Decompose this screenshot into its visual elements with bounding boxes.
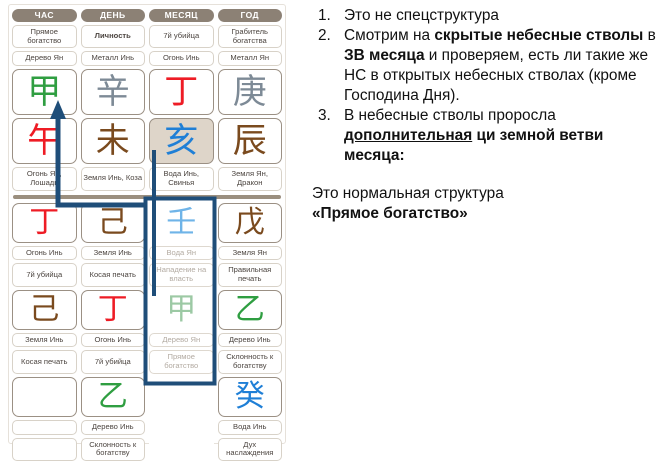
bazi-chart-panel: ЧАС ДЕНЬ МЕСЯЦ ГОД Прямое богатство Личн… <box>8 4 286 444</box>
hidden-stem-2-year: 乙 <box>218 290 283 330</box>
note-2-text-c: в <box>643 27 655 44</box>
branch-element-year: Земля Ян, Дракон <box>218 167 283 190</box>
hidden-stem-2-element-year: Дерево Инь <box>218 333 283 348</box>
note-1-text: Это не спецструктура <box>344 7 499 24</box>
hidden-stem-3-hour <box>12 377 77 417</box>
hidden-stem-1-god-day: Косая печать <box>81 263 146 286</box>
hidden-stem-1-god-hour: 7й убийца <box>12 263 77 286</box>
earthly-branch-month: 亥 <box>149 118 214 164</box>
pillar-header-day: ДЕНЬ <box>81 9 146 22</box>
note-item-1: 1. Это не спецструктура <box>312 6 662 26</box>
note-3-text-a: В небесные стволы проросла <box>344 107 556 124</box>
hidden-stem-2-hour: 己 <box>12 290 77 330</box>
hidden-stem-3-element-day: Дерево Инь <box>81 420 146 435</box>
section-divider <box>13 195 281 199</box>
hidden-stem-3-god-month <box>149 438 214 461</box>
heavenly-stem-day: 辛 <box>81 69 146 115</box>
branch-element-hour: Огонь Ян, Лошадь <box>12 167 77 190</box>
hidden-stem-3-god-hour <box>12 438 77 461</box>
note-3-text-b: дополнительная <box>344 127 472 144</box>
heavenly-stem-row: 甲 辛 丁 庚 <box>12 69 282 115</box>
note-1-body: Это не спецструктура <box>344 6 662 26</box>
stem-god-month: 7й убийца <box>149 25 214 48</box>
hidden-stem-1-god-year: Правильная печать <box>218 263 283 286</box>
notes-spacer <box>312 166 662 184</box>
earthly-branch-day: 未 <box>81 118 146 164</box>
hidden-stem-2-god-hour: Косая печать <box>12 350 77 373</box>
hidden-stem-3-element-year: Вода Инь <box>218 420 283 435</box>
stem-god-hour: Прямое богатство <box>12 25 77 48</box>
hidden-stem-3-god-year: Дух наслаждения <box>218 438 283 461</box>
hidden-stem-2-god-year: Склонность к богатству <box>218 350 283 373</box>
stem-god-row: Прямое богатство Личность 7й убийца Граб… <box>12 25 282 48</box>
hidden-stem-3-element-row: Дерево Инь Вода Инь <box>12 420 282 435</box>
stem-element-day: Металл Инь <box>81 51 146 66</box>
conclusion-block: Это нормальная структура «Прямое богатст… <box>312 184 662 224</box>
stem-element-year: Металл Ян <box>218 51 283 66</box>
heavenly-stem-year: 庚 <box>218 69 283 115</box>
hidden-stem-2-element-day: Огонь Инь <box>81 333 146 348</box>
note-2-body: Смотрим на скрытые небесные стволы в ЗВ … <box>344 26 662 106</box>
hidden-stem-1-god-row: 7й убийца Косая печать Нападение на влас… <box>12 263 282 286</box>
hidden-stem-2-element-hour: Земля Инь <box>12 333 77 348</box>
hidden-stem-1-year: 戊 <box>218 203 283 243</box>
heavenly-stem-hour: 甲 <box>12 69 77 115</box>
earthly-branch-hour: 午 <box>12 118 77 164</box>
hidden-stem-1-hour: 丁 <box>12 203 77 243</box>
hidden-stem-2-god-month: Прямое богатство <box>149 350 214 373</box>
stem-god-year: Грабитель богатства <box>218 25 283 48</box>
note-item-2: 2. Смотрим на скрытые небесные стволы в … <box>312 26 662 106</box>
hidden-stem-3-year: 癸 <box>218 377 283 417</box>
hidden-stem-2-month: 甲 <box>149 290 214 330</box>
note-2-number: 2. <box>312 26 344 106</box>
notes-panel: 1. Это не спецструктура 2. Смотрим на ск… <box>312 6 662 436</box>
stem-element-month: Огонь Инь <box>149 51 214 66</box>
hidden-stem-1-element-row: Огонь Инь Земля Инь Вода Ян Земля Ян <box>12 246 282 261</box>
hidden-stem-row-1: 丁 己 壬 戊 <box>12 203 282 243</box>
note-item-3: 3. В небесные стволы проросла дополнител… <box>312 106 662 166</box>
pillar-header-month: МЕСЯЦ <box>149 9 214 22</box>
note-3-number: 3. <box>312 106 344 166</box>
hidden-stem-3-month <box>149 377 214 417</box>
earthly-branch-row: 午 未 亥 辰 <box>12 118 282 164</box>
hidden-stem-3-element-month <box>149 420 214 435</box>
hidden-stem-2-element-row: Земля Инь Огонь Инь Дерево Ян Дерево Инь <box>12 333 282 348</box>
earthly-branch-year: 辰 <box>218 118 283 164</box>
hidden-stem-1-month: 壬 <box>149 203 214 243</box>
branch-element-day: Земля Инь, Коза <box>81 167 146 190</box>
stem-element-hour: Дерево Ян <box>12 51 77 66</box>
pillar-header-row: ЧАС ДЕНЬ МЕСЯЦ ГОД <box>12 9 282 22</box>
hidden-stem-2-element-month: Дерево Ян <box>149 333 214 348</box>
note-2-text-a: Смотрим на <box>344 27 434 44</box>
pillar-header-year: ГОД <box>218 9 283 22</box>
branch-element-row: Огонь Ян, Лошадь Земля Инь, Коза Вода Ин… <box>12 167 282 190</box>
hidden-stem-1-element-hour: Огонь Инь <box>12 246 77 261</box>
note-2-text-d: ЗВ месяца <box>344 47 425 64</box>
hidden-stem-2-god-row: Косая печать 7й убийца Прямое богатство … <box>12 350 282 373</box>
pillar-header-hour: ЧАС <box>12 9 77 22</box>
hidden-stem-3-element-hour <box>12 420 77 435</box>
hidden-stem-2-day: 丁 <box>81 290 146 330</box>
conclusion-line-2: «Прямое богатство» <box>312 204 662 224</box>
conclusion-line-1: Это нормальная структура <box>312 184 662 204</box>
stem-element-row: Дерево Ян Металл Инь Огонь Инь Металл Ян <box>12 51 282 66</box>
hidden-stem-row-3: 乙 癸 <box>12 377 282 417</box>
hidden-stem-3-god-day: Склонность к богатству <box>81 438 146 461</box>
hidden-stem-1-element-year: Земля Ян <box>218 246 283 261</box>
hidden-stem-2-god-day: 7й убийца <box>81 350 146 373</box>
hidden-stem-1-day: 己 <box>81 203 146 243</box>
stem-god-day: Личность <box>81 25 146 48</box>
hidden-stem-1-element-month: Вода Ян <box>149 246 214 261</box>
note-1-number: 1. <box>312 6 344 26</box>
hidden-stem-1-element-day: Земля Инь <box>81 246 146 261</box>
hidden-stem-row-2: 己 丁 甲 乙 <box>12 290 282 330</box>
hidden-stem-3-day: 乙 <box>81 377 146 417</box>
note-3-body: В небесные стволы проросла дополнительна… <box>344 106 662 166</box>
branch-element-month: Вода Инь, Свинья <box>149 167 214 190</box>
note-2-text-b: скрытые небесные стволы <box>434 27 643 44</box>
hidden-stem-1-god-month: Нападение на власть <box>149 263 214 286</box>
heavenly-stem-month: 丁 <box>149 69 214 115</box>
hidden-stem-3-god-row: Склонность к богатству Дух наслаждения <box>12 438 282 461</box>
